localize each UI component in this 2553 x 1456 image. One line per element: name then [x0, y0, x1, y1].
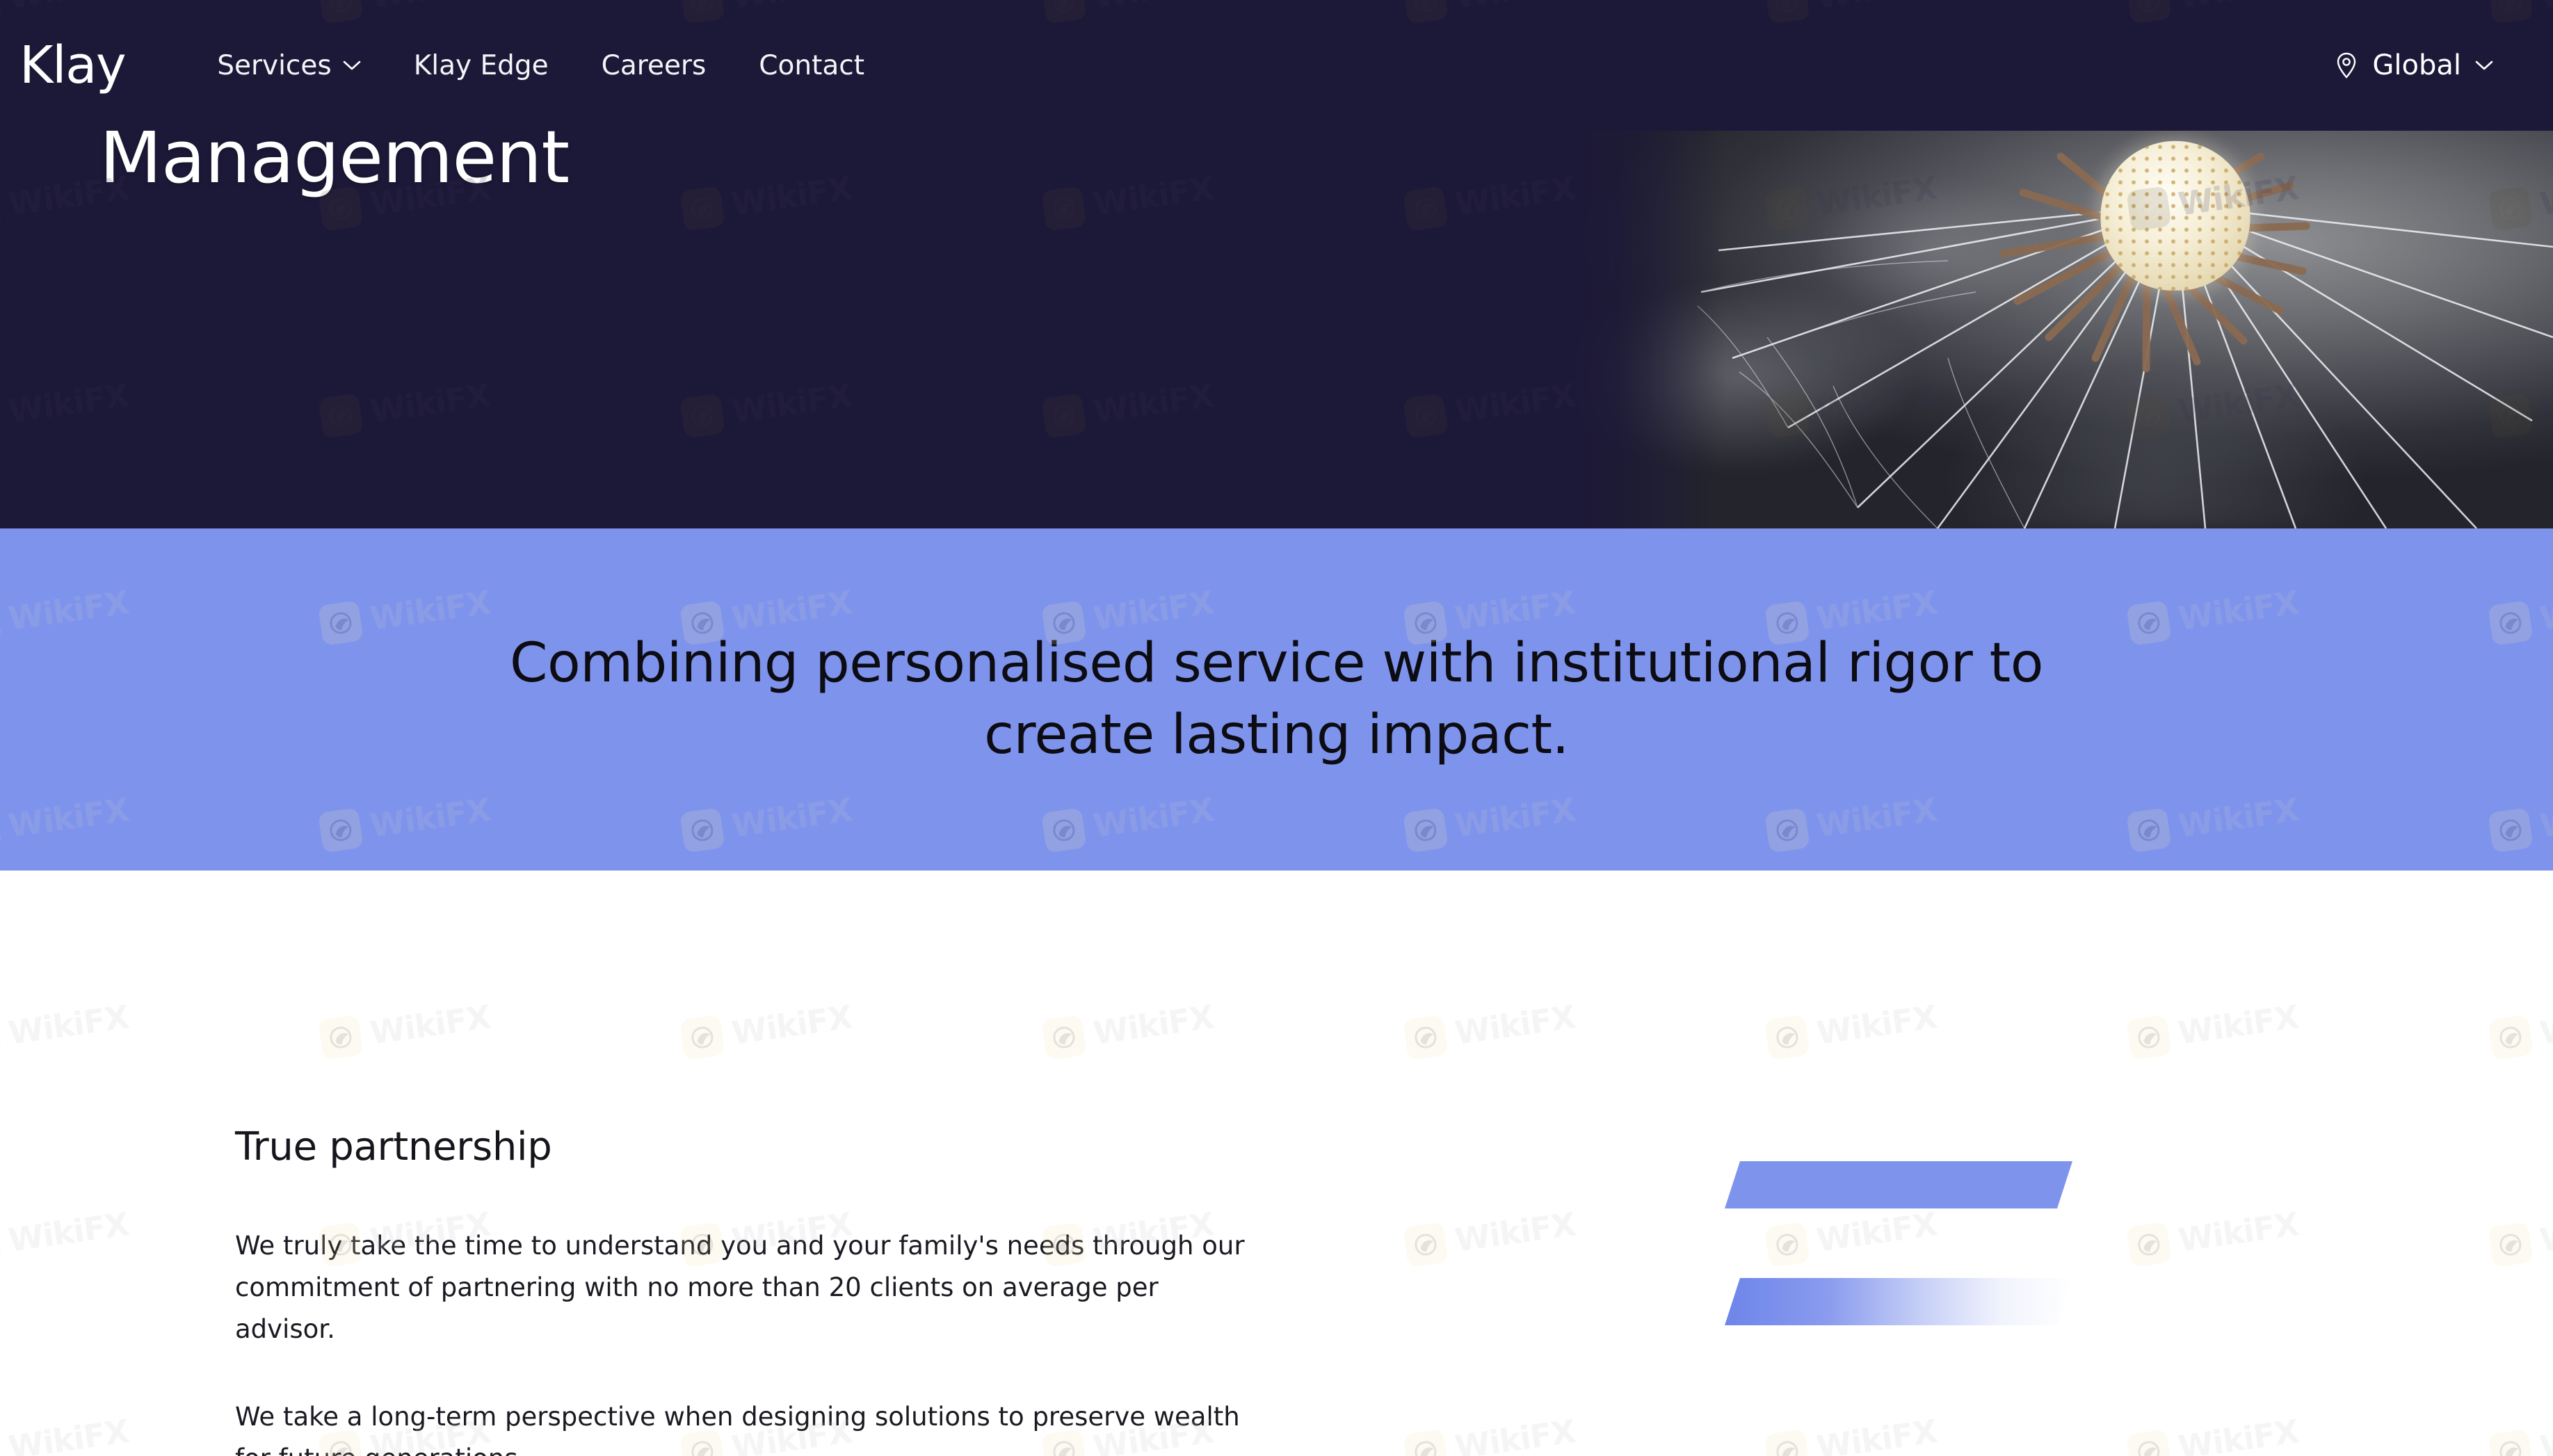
top-navigation-bar: Klay Services Klay Edge Careers Contact — [0, 0, 2553, 131]
parallelogram-gradient — [1725, 1278, 2072, 1325]
section-paragraph: We truly take the time to understand you… — [235, 1225, 1257, 1350]
page-root: Wealth Management Klay Services Klay Edg… — [0, 0, 2553, 1456]
brand-logo[interactable]: Klay — [19, 40, 125, 91]
parallelogram-decoration — [1725, 1161, 2114, 1328]
section-paragraph: We take a long-term perspective when des… — [235, 1396, 1257, 1456]
nav-item-contact[interactable]: Contact — [732, 50, 891, 81]
location-pin-icon — [2335, 51, 2358, 79]
primary-nav: Services Klay Edge Careers Contact — [191, 50, 891, 81]
section-text-column: True partnership We truly take the time … — [235, 1124, 1292, 1456]
nav-item-klay-edge[interactable]: Klay Edge — [387, 50, 575, 81]
hero-dandelion-image — [1559, 129, 2553, 528]
tagline-band: Combining personalised service with inst… — [0, 528, 2553, 871]
section-heading: True partnership — [235, 1124, 1292, 1170]
dandelion-seed-core — [2100, 140, 2250, 290]
tagline-text: Combining personalised service with inst… — [491, 628, 2063, 771]
region-selector[interactable]: Global — [2335, 49, 2493, 81]
parallelogram-solid — [1725, 1161, 2072, 1208]
nav-item-label: Services — [217, 50, 331, 81]
nav-item-label: Careers — [602, 50, 707, 81]
chevron-down-icon — [343, 60, 361, 71]
true-partnership-section: True partnership We truly take the time … — [0, 871, 2553, 1456]
chevron-down-icon — [2475, 60, 2493, 71]
nav-item-services[interactable]: Services — [191, 50, 387, 81]
nav-item-label: Contact — [759, 50, 864, 81]
nav-item-careers[interactable]: Careers — [575, 50, 733, 81]
nav-item-label: Klay Edge — [414, 50, 549, 81]
region-label: Global — [2372, 49, 2461, 81]
photo-left-fade — [1559, 129, 1725, 528]
